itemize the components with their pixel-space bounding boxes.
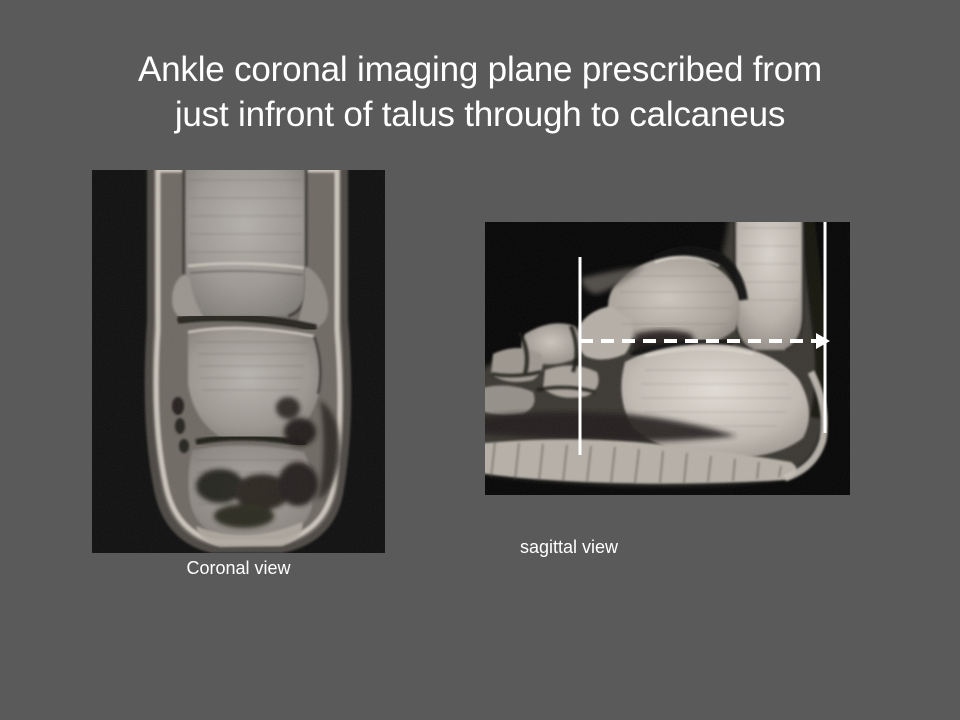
sagittal-mri-image — [485, 222, 850, 495]
presentation-slide: Ankle coronal imaging plane prescribed f… — [0, 0, 960, 720]
coronal-view-caption: Coronal view — [92, 558, 385, 579]
title-line-2: just infront of talus through to calcane… — [50, 93, 910, 138]
coronal-mri-image — [92, 170, 385, 553]
sagittal-mri-graphic — [485, 222, 850, 495]
coronal-mri-graphic — [92, 170, 385, 553]
sagittal-view-caption: sagittal view — [485, 537, 820, 558]
title-line-1: Ankle coronal imaging plane prescribed f… — [50, 48, 910, 93]
page-title: Ankle coronal imaging plane prescribed f… — [50, 48, 910, 138]
